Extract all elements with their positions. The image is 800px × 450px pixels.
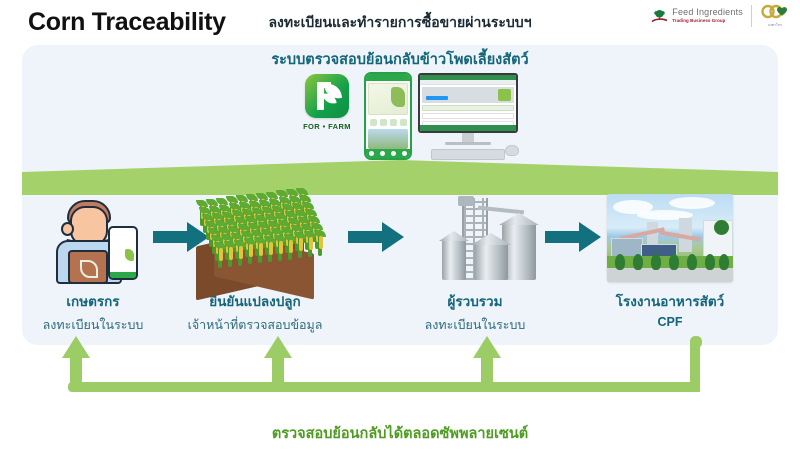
desktop-monitor-icon (418, 73, 518, 157)
feedmill-photo-icon (595, 190, 745, 285)
stage-field: ยืนยันแปลงปลูก เจ้าหน้าที่ตรวจสอบข้อมูล (180, 190, 330, 335)
farmer-illustration-icon (18, 190, 168, 285)
registration-banner-label: ลงทะเบียนและทำรายการซื้อขายผ่านระบบฯ (0, 12, 800, 34)
grain-silo-illustration-icon (400, 190, 550, 285)
smartphone-mockup-icon (364, 72, 412, 160)
stage-collector-name: ผู้รวบรวม (400, 290, 550, 312)
traceback-flow (0, 330, 800, 420)
system-title: ระบบตรวจสอบย้อนกลับข้าวโพดเลี้ยงสัตว์ (0, 48, 800, 71)
stage-mill: โรงงานอาหารสัตว์ CPF (595, 190, 745, 329)
traceback-caption: ตรวจสอบย้อนกลับได้ตลอดซัพพลายเซนต์ (0, 422, 800, 445)
flow-arrow-3-icon (545, 222, 601, 257)
forfarm-app: FOR • FARM (300, 74, 354, 131)
stage-farmer: เกษตรกร ลงทะเบียนในระบบ (18, 190, 168, 335)
devices-illustration: FOR • FARM (300, 72, 520, 157)
stage-collector: ผู้รวบรวม ลงทะเบียนในระบบ (400, 190, 550, 335)
stage-mill-sub: CPF (595, 315, 745, 329)
cornfield-illustration-icon (180, 190, 330, 285)
forfarm-app-label: FOR • FARM (300, 122, 354, 131)
forfarm-app-icon (305, 74, 349, 118)
flow-arrow-2-icon (348, 222, 404, 257)
stage-mill-name: โรงงานอาหารสัตว์ (595, 290, 745, 312)
stage-farmer-name: เกษตรกร (18, 290, 168, 312)
